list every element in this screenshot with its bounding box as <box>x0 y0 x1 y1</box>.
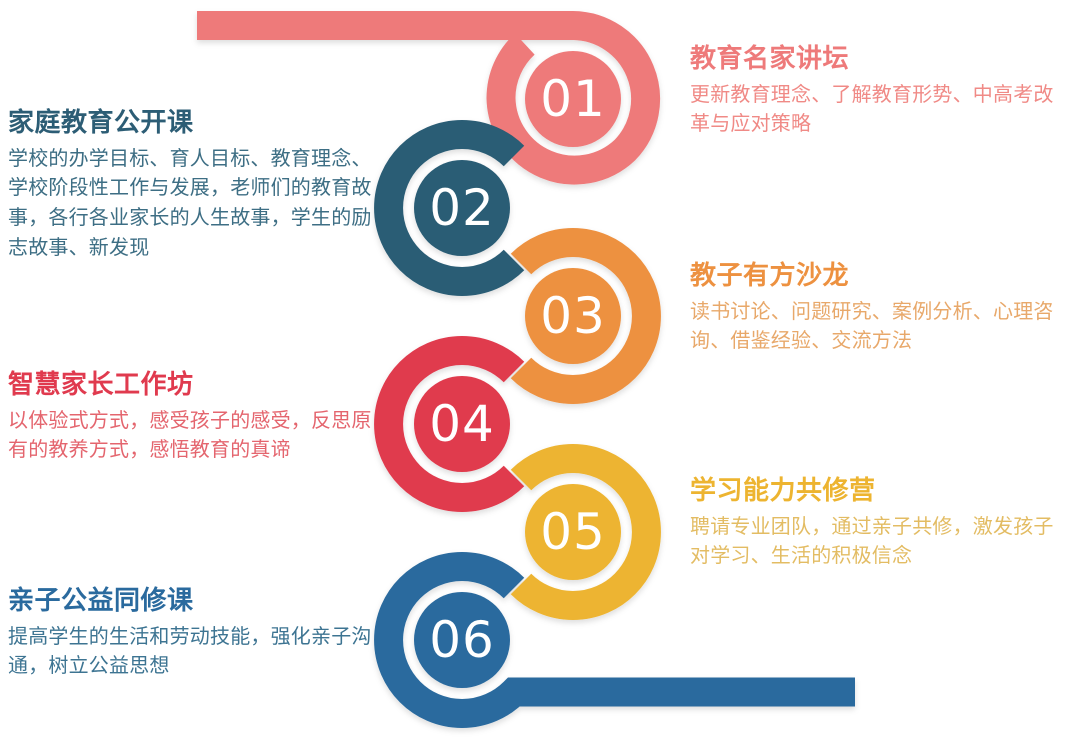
step-desc-06: 提高学生的生活和劳动技能，强化亲子沟通，树立公益思想 <box>8 622 376 681</box>
step-title-05: 学习能力共修营 <box>690 476 1062 508</box>
step-disc-06[interactable]: 06 <box>414 592 510 688</box>
step-number-02: 02 <box>429 179 495 237</box>
infographic-canvas: 01 02 03 04 05 06 <box>0 0 1080 749</box>
step-number-05: 05 <box>540 503 606 561</box>
step-text-02: 家庭教育公开课 学校的办学目标、育人目标、教育理念、学校阶段性工作与发展，老师们… <box>8 108 376 262</box>
step-disc-03[interactable]: 03 <box>525 268 621 364</box>
step-disc-02[interactable]: 02 <box>414 160 510 256</box>
step-disc-04[interactable]: 04 <box>414 376 510 472</box>
step-text-05: 学习能力共修营 聘请专业团队，通过亲子共修，激发孩子对学习、生活的积极信念 <box>690 476 1062 571</box>
step-text-06: 亲子公益同修课 提高学生的生活和劳动技能，强化亲子沟通，树立公益思想 <box>8 586 376 681</box>
step-desc-01: 更新教育理念、了解教育形势、中高考改革与应对策略 <box>690 80 1062 139</box>
step-text-03: 教子有方沙龙 读书讨论、问题研究、案例分析、心理咨询、借鉴经验、交流方法 <box>690 261 1062 356</box>
step-number-06: 06 <box>429 611 495 669</box>
step-desc-03: 读书讨论、问题研究、案例分析、心理咨询、借鉴经验、交流方法 <box>690 297 1062 356</box>
step-disc-01[interactable]: 01 <box>525 51 621 147</box>
step-title-04: 智慧家长工作坊 <box>8 370 376 402</box>
step-number-03: 03 <box>540 287 606 345</box>
step-disc-05[interactable]: 05 <box>525 484 621 580</box>
step-desc-02: 学校的办学目标、育人目标、教育理念、学校阶段性工作与发展，老师们的教育故事，各行… <box>8 144 376 262</box>
step-desc-05: 聘请专业团队，通过亲子共修，激发孩子对学习、生活的积极信念 <box>690 512 1062 571</box>
step-title-02: 家庭教育公开课 <box>8 108 376 140</box>
step-title-03: 教子有方沙龙 <box>690 261 1062 293</box>
step-number-01: 01 <box>540 70 606 128</box>
step-title-06: 亲子公益同修课 <box>8 586 376 618</box>
step-desc-04: 以体验式方式，感受孩子的感受，反思原有的教养方式，感悟教育的真谛 <box>8 406 376 465</box>
step-title-01: 教育名家讲坛 <box>690 44 1062 76</box>
step-text-01: 教育名家讲坛 更新教育理念、了解教育形势、中高考改革与应对策略 <box>690 44 1062 139</box>
step-text-04: 智慧家长工作坊 以体验式方式，感受孩子的感受，反思原有的教养方式，感悟教育的真谛 <box>8 370 376 465</box>
step-number-04: 04 <box>429 395 495 453</box>
